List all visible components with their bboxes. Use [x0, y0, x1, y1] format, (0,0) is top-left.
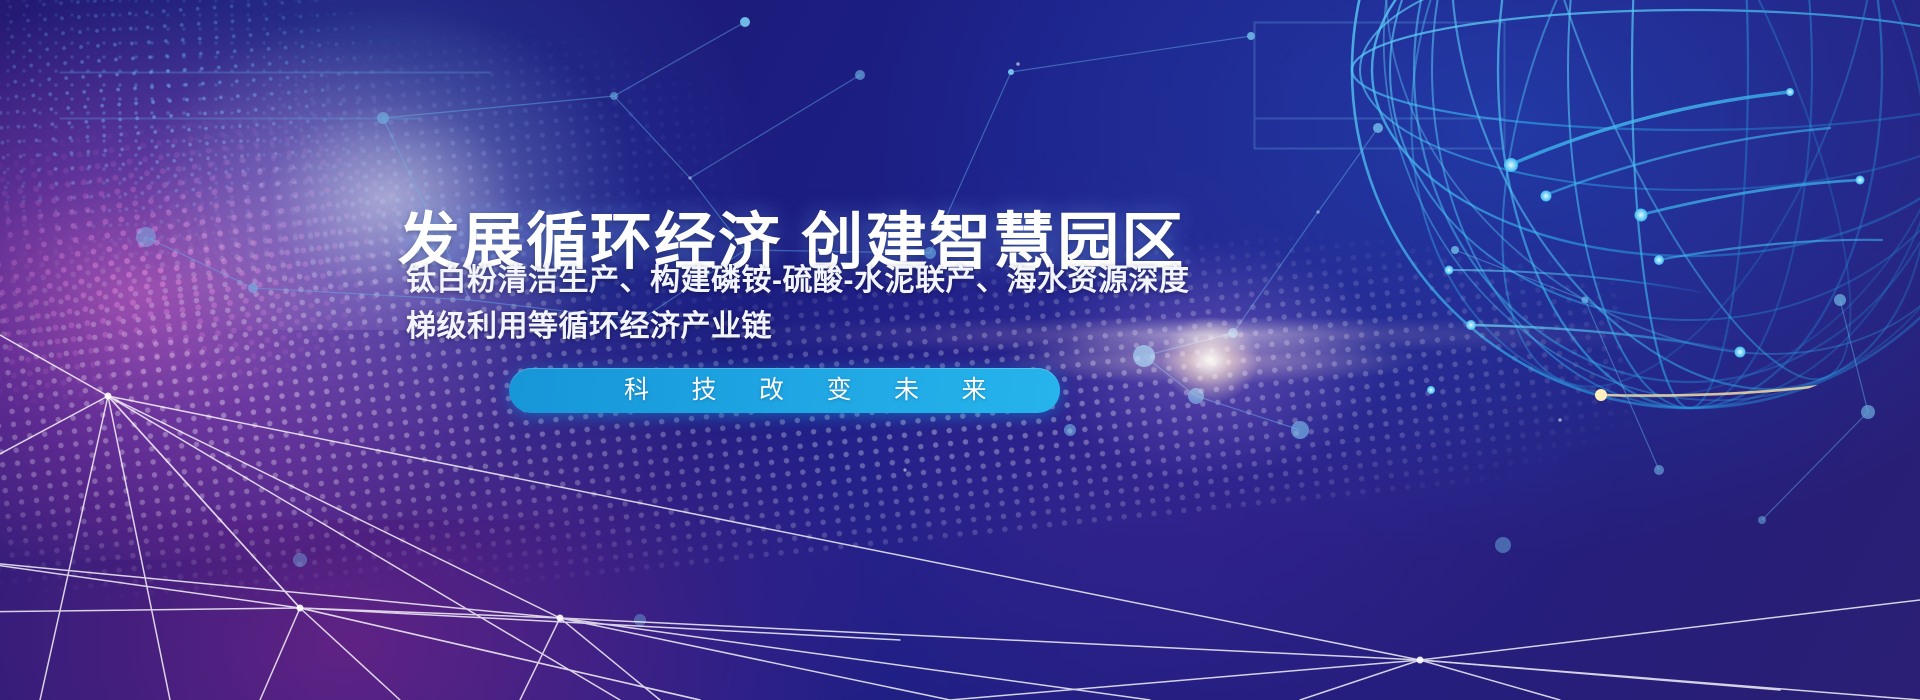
- cta-button[interactable]: 科 技 改 变 未 来: [509, 368, 1060, 413]
- subtitle-line-2: 梯级利用等循环经济产业链: [406, 304, 1196, 350]
- cta-char-4: 变: [827, 378, 853, 403]
- cta-char-2: 技: [691, 378, 717, 403]
- cta-button-label: 科 技 改 变 未 来: [582, 378, 987, 403]
- cta-char-6: 来: [962, 378, 988, 403]
- hero-banner: 发展循环经济 创建智慧园区 钛白粉清洁生产、构建磷铵-硫酸-水泥联产、海水资源深…: [0, 0, 1920, 700]
- subtitle-line-1: 钛白粉清洁生产、构建磷铵-硫酸-水泥联产、海水资源深度: [406, 258, 1196, 304]
- cta-char-1: 科: [624, 378, 650, 403]
- cta-char-3: 改: [759, 378, 785, 403]
- banner-content: 发展循环经济 创建智慧园区 钛白粉清洁生产、构建磷铵-硫酸-水泥联产、海水资源深…: [0, 0, 1920, 700]
- cta-char-5: 未: [894, 378, 920, 403]
- banner-subtitle: 钛白粉清洁生产、构建磷铵-硫酸-水泥联产、海水资源深度 梯级利用等循环经济产业链: [406, 258, 1196, 350]
